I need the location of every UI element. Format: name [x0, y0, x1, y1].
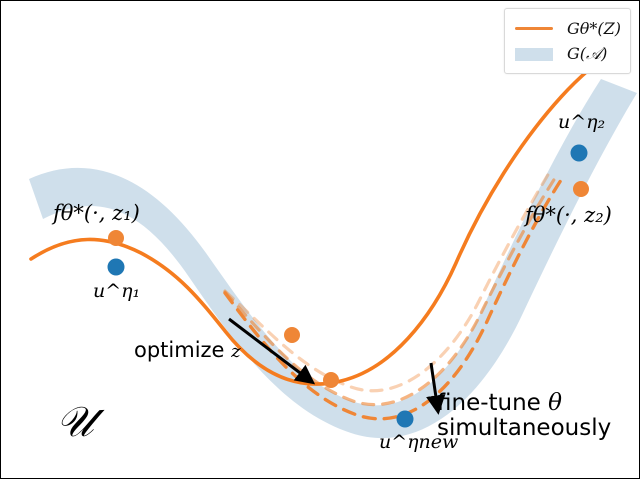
label-f-theta-z2: fθ*(·, z₂) [525, 203, 612, 227]
legend-line-swatch [513, 27, 555, 30]
legend-label-g-of-a: G(𝒜) [567, 44, 607, 64]
label-fine-tune: fine-tune θ simultaneously [437, 391, 611, 441]
label-space-u: 𝒰 [56, 397, 94, 447]
fine-tune-word: fine-tune [437, 390, 541, 416]
fine-tune-line1: fine-tune θ [437, 391, 611, 416]
fine-tune-line2: simultaneously [437, 416, 611, 441]
figure-canvas: fθ*(·, z₁) u^η₁ fθ*(·, z₂) u^η₂ u^ηnew 𝒰… [0, 0, 640, 479]
optimize-z-arrow [229, 319, 312, 382]
label-u-eta1: u^η₁ [93, 280, 140, 302]
label-u-eta2: u^η₂ [558, 111, 605, 133]
optimize-word: optimize [134, 338, 224, 362]
optimize-var: z [231, 341, 240, 362]
label-f-theta-z1: fθ*(·, z₁) [53, 201, 140, 225]
label-optimize-z: optimize z [134, 338, 241, 362]
legend-patch-swatch [513, 48, 555, 61]
fine-tune-var: θ [548, 390, 562, 416]
legend-label-g-theta-z: Gθ*(Z) [567, 19, 621, 38]
legend-item-g-of-a: G(𝒜) [513, 41, 621, 67]
legend: Gθ*(Z) G(𝒜) [504, 8, 631, 74]
legend-item-g-theta-z: Gθ*(Z) [513, 15, 621, 41]
